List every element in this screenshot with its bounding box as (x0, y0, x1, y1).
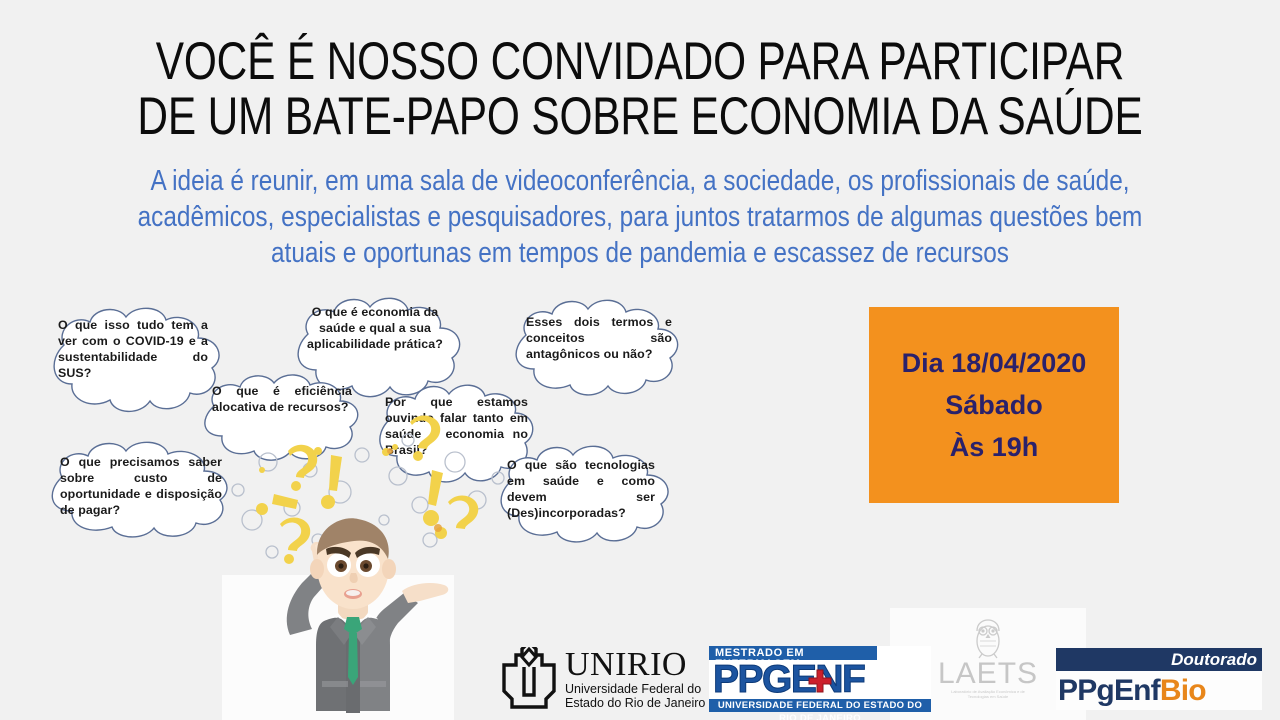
laets-subtitle: Laboratório de Avaliação Econômica e de … (942, 689, 1034, 699)
logo-laets: LAETS Laboratório de Avaliação Econômica… (938, 617, 1038, 715)
thought-bubble-tecnologias: O que são tecnologias em saúde e como de… (483, 440, 683, 548)
event-weekday: Sábado (945, 388, 1043, 422)
logo-ppgenfbio: Doutorado PPgEnf Bio (1056, 648, 1262, 710)
ppgenfbio-acronym-navy: PPgEnf (1058, 676, 1160, 706)
thought-bubble-text: O que é economia da saúde e qual a sua a… (306, 305, 444, 353)
event-date: Dia 18/04/2020 (902, 346, 1087, 380)
thought-bubble-text: O que são tecnologias em saúde e como de… (507, 458, 655, 522)
event-time: Às 19h (950, 430, 1039, 464)
ppgenf-acronym: PPGENF (713, 660, 864, 699)
unirio-subtitle-line-2: Estado do Rio de Janeiro (565, 696, 705, 710)
unirio-subtitle-line-1: Universidade Federal do (565, 682, 705, 696)
logo-ppgenf: MESTRADO EM ENFERMAGEM PPGENF UNIVERSIDA… (709, 646, 931, 712)
ppgenf-acronym-row: PPGENF (709, 660, 931, 699)
ppgenfbio-acronym-orange: Bio (1160, 676, 1206, 706)
owl-icon (971, 617, 1005, 659)
thought-bubble-text: O que é eficiência alocativa de recursos… (212, 384, 352, 416)
unirio-emblem-icon (498, 647, 560, 711)
thought-bubble-text: O que isso tudo tem a ver com o COVID-19… (58, 318, 208, 382)
unirio-name: UNIRIO (565, 648, 705, 682)
laets-acronym: LAETS (938, 659, 1038, 689)
thought-bubble-custo: O que precisamos saber sobre custo de op… (32, 437, 254, 542)
ppgenfbio-banner: Doutorado (1056, 648, 1262, 671)
event-date-box: Dia 18/04/2020 Sábado Às 19h (869, 307, 1119, 503)
logo-unirio: UNIRIO Universidade Federal do Estado do… (498, 645, 706, 713)
red-cross-icon (807, 668, 833, 694)
unirio-text-block: UNIRIO Universidade Federal do Estado do… (565, 648, 705, 710)
thought-bubble-text: Esses dois termos e conceitos são antagô… (526, 315, 672, 363)
confused-businessman-illustration (246, 505, 461, 720)
ppgenfbio-acronym-row: PPgEnf Bio (1056, 671, 1262, 710)
thought-bubble-text: O que precisamos saber sobre custo de op… (60, 455, 222, 519)
ppgenfbio-banner-text: Doutorado (1171, 651, 1257, 668)
slide-canvas: VOCÊ É NOSSO CONVIDADO PARA PARTICIPAR D… (0, 0, 1280, 720)
